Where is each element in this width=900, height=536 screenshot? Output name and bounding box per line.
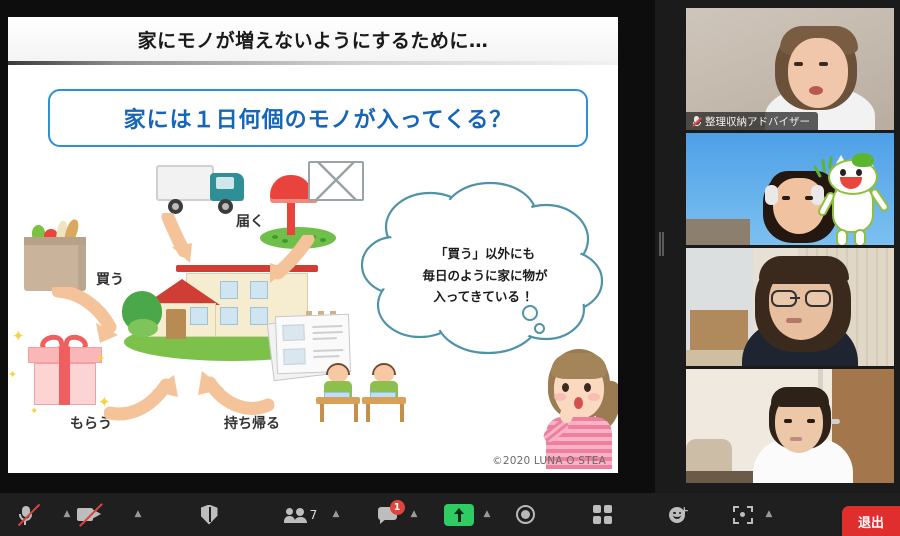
meeting-toolbar: ▲ ▲ 7 ▲ 1 ▲: [0, 493, 900, 536]
chevron-up-icon: ▲: [135, 510, 142, 519]
arrow-truck-to-house: [158, 213, 210, 269]
record-button[interactable]: [508, 493, 542, 536]
envelope-icon: [308, 161, 364, 201]
label-buy: 買う: [96, 269, 124, 289]
participants-options-caret[interactable]: ▲: [327, 493, 345, 536]
headline-box: 家には１日何個のモノが入ってくる？: [48, 89, 588, 147]
video-filmstrip: 整理収納アドバイザー: [669, 0, 900, 493]
sparkle-icon: ✦: [12, 329, 25, 344]
share-screen-icon: [444, 504, 474, 526]
video-mute-button[interactable]: [54, 493, 124, 536]
panel-divider[interactable]: [655, 0, 669, 493]
presentation-slide: 家にモノが増えないようにするために… 家には１日何個のモノが入ってくる？ 買う: [8, 17, 618, 473]
title-divider-rule: [8, 61, 618, 65]
video-tile-4[interactable]: [686, 369, 894, 483]
more-options-icon: [733, 506, 753, 524]
girl-character-icon: [538, 347, 618, 469]
chevron-up-icon: ▲: [766, 510, 773, 519]
shield-icon: [201, 505, 218, 525]
grid-icon: [593, 505, 612, 524]
camera-muted-icon: [77, 507, 101, 522]
slide-title: 家にモノが増えないようにするために…: [138, 26, 489, 53]
share-options-caret[interactable]: ▲: [478, 493, 496, 536]
shopping-bag-icon: [24, 219, 86, 291]
arrow-gift-to-house: [104, 369, 184, 427]
more-options-caret[interactable]: ▲: [760, 493, 778, 536]
chevron-up-icon: ▲: [484, 510, 491, 519]
people-icon: [285, 508, 307, 522]
sparkle-icon: ✦: [30, 407, 38, 417]
cat-mascot-icon: [822, 157, 884, 245]
arrow-buy-to-house: [52, 287, 122, 347]
chevron-up-icon: ▲: [333, 510, 340, 519]
chat-options-caret[interactable]: ▲: [405, 493, 423, 536]
thought-cloud-text: 「買う」以外にも 毎日のように家に物が 入ってきている ！: [392, 243, 578, 308]
tile-1-participant-name: 整理収納アドバイザー: [705, 114, 810, 129]
record-icon: [516, 505, 535, 524]
video-tile-2[interactable]: [686, 133, 894, 245]
chat-unread-badge: 1: [390, 500, 405, 515]
breakout-rooms-button[interactable]: [585, 493, 619, 536]
share-screen-button[interactable]: [440, 493, 478, 536]
arrow-newspaper-to-house: [190, 365, 276, 423]
sparkle-icon: ✦: [96, 353, 105, 364]
audio-mute-button[interactable]: [8, 493, 42, 536]
slide-title-bar: 家にモノが増えないようにするために…: [8, 17, 618, 61]
headline-text: 家には１日何個のモノが入ってくる？: [124, 102, 513, 134]
more-options-button[interactable]: [726, 493, 760, 536]
security-button[interactable]: [192, 493, 226, 536]
microphone-muted-icon: [18, 505, 33, 525]
mic-muted-icon: [692, 116, 701, 127]
chat-button[interactable]: 1: [370, 493, 404, 536]
label-deliver: 届く: [236, 211, 264, 231]
reactions-button[interactable]: +: [662, 493, 696, 536]
video-tile-3[interactable]: [686, 248, 894, 366]
participants-button[interactable]: 7: [276, 493, 326, 536]
chevron-up-icon: ▲: [411, 510, 418, 519]
chat-icon: 1: [378, 507, 397, 523]
divider-grip-icon[interactable]: [659, 232, 663, 256]
tile-1-name-badge: 整理収納アドバイザー: [686, 112, 818, 130]
slide-copyright: ©2020 LUNA O STEA: [492, 455, 606, 467]
video-options-caret[interactable]: ▲: [129, 493, 147, 536]
video-tile-1[interactable]: 整理収納アドバイザー: [686, 8, 894, 130]
zoom-meeting-window: 家にモノが増えないようにするために… 家には１日何個のモノが入ってくる？ 買う: [0, 0, 900, 536]
slide-illustration: 買う 届く: [8, 157, 618, 473]
participants-count: 7: [310, 508, 318, 522]
arrow-mailbox-to-house: [256, 235, 318, 291]
shared-screen-stage[interactable]: 家にモノが増えないようにするために… 家には１日何個のモノが入ってくる？ 買う: [0, 0, 670, 493]
leave-meeting-button[interactable]: 退出: [842, 506, 900, 536]
sparkle-icon: ✦: [8, 369, 17, 380]
reactions-icon: +: [669, 506, 689, 524]
